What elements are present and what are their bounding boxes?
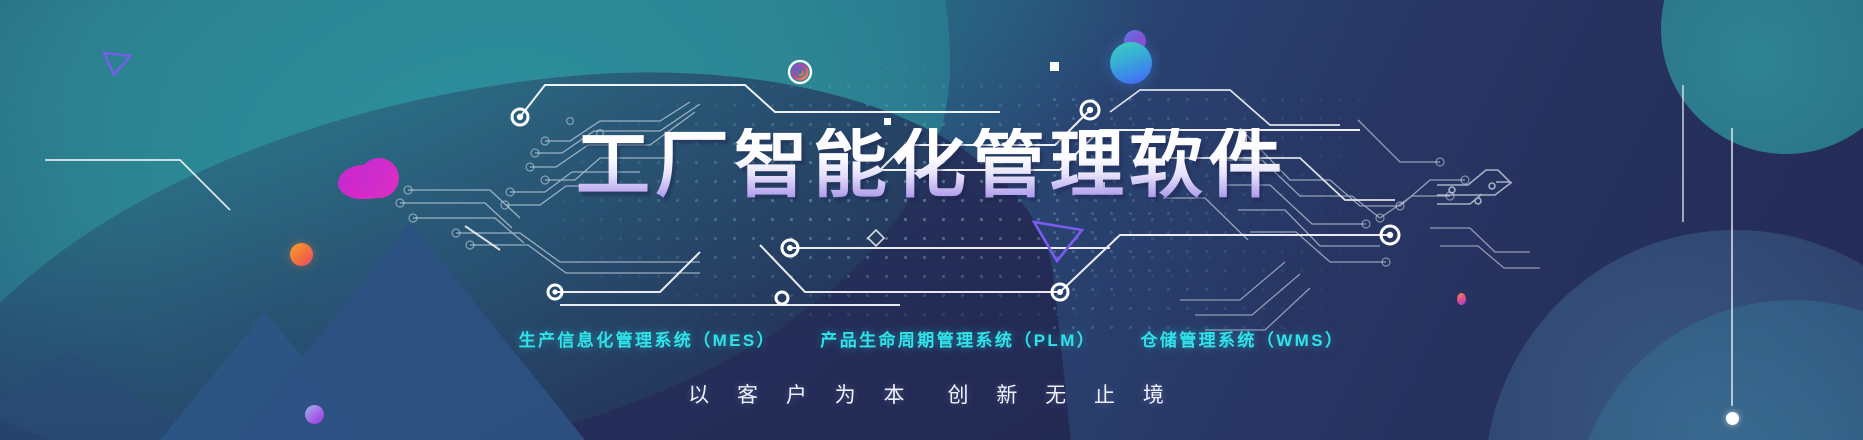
banner-subtitle: 生产信息化管理系统（MES） 产品生命周期管理系统（PLM） 仓储管理系统（WM… — [0, 326, 1863, 351]
banner-tagline: 以 客 户 为 本 创 新 无 止 境 — [0, 379, 1863, 409]
banner-content: 工厂智能化管理软件 工厂智能化管理软件 生产信息化管理系统（MES） 产品生命周… — [0, 0, 1863, 440]
subtitle-item-wms: 仓储管理系统（WMS） — [1140, 326, 1344, 351]
banner-title: 工厂智能化管理软件 — [0, 128, 1863, 202]
hero-banner: 工厂智能化管理软件 工厂智能化管理软件 生产信息化管理系统（MES） 产品生命周… — [0, 0, 1863, 440]
subtitle-item-mes: 生产信息化管理系统（MES） — [519, 326, 776, 351]
subtitle-item-plm: 产品生命周期管理系统（PLM） — [820, 326, 1096, 351]
